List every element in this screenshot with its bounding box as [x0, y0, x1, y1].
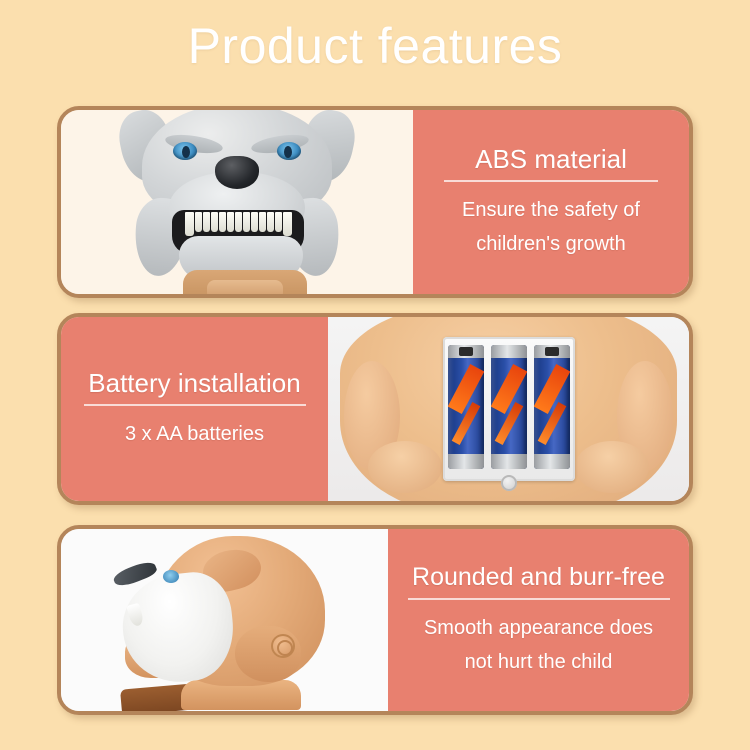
grey-bulldog-illustration [87, 110, 387, 294]
feature-line-1: Ensure the safety of [462, 193, 640, 227]
feature-heading: Rounded and burr-free [412, 561, 665, 593]
dog-teeth [172, 212, 304, 234]
toy-leg-left [368, 441, 442, 493]
battery-door-open [443, 337, 575, 481]
dog-eye [163, 570, 179, 583]
aa-battery-2 [491, 345, 527, 469]
dog-pupil-right [284, 146, 292, 158]
heading-underline [444, 180, 658, 182]
wind-up-knob-icon [271, 634, 295, 658]
feature-card-rounded-burr-free: Rounded and burr-free Smooth appearance … [57, 525, 693, 715]
feature-text-abs-material: ABS material Ensure the safety of childr… [413, 110, 689, 294]
feature-card-battery-installation: Battery installation 3 x AA batteries [57, 313, 693, 505]
heading-underline [84, 404, 306, 406]
feature-heading: Battery installation [88, 367, 300, 399]
feature-image-rounded-burr-free [61, 529, 388, 711]
feature-line-1: 3 x AA batteries [125, 417, 264, 451]
feature-image-abs-material [61, 110, 413, 294]
aa-battery-3 [534, 345, 570, 469]
feature-image-battery-installation [328, 317, 689, 501]
page-title: Product features [0, 16, 750, 76]
dog-body-base [183, 270, 307, 294]
feature-card-abs-material: ABS material Ensure the safety of childr… [57, 106, 693, 298]
dog-pupil-left [182, 146, 190, 158]
heading-underline [408, 598, 670, 600]
feature-text-rounded-burr-free: Rounded and burr-free Smooth appearance … [388, 529, 689, 711]
toy-leg-right [575, 441, 649, 493]
feature-line-1: Smooth appearance does [424, 611, 653, 645]
battery-compartment-illustration [328, 317, 689, 501]
tan-bulldog-profile-illustration [85, 530, 365, 710]
feature-text-battery-installation: Battery installation 3 x AA batteries [61, 317, 328, 501]
feature-heading: ABS material [475, 143, 627, 175]
feature-line-2: not hurt the child [465, 645, 613, 679]
feature-line-2: children's growth [476, 227, 625, 261]
aa-battery-1 [448, 345, 484, 469]
battery-door-screw-icon [501, 475, 517, 491]
